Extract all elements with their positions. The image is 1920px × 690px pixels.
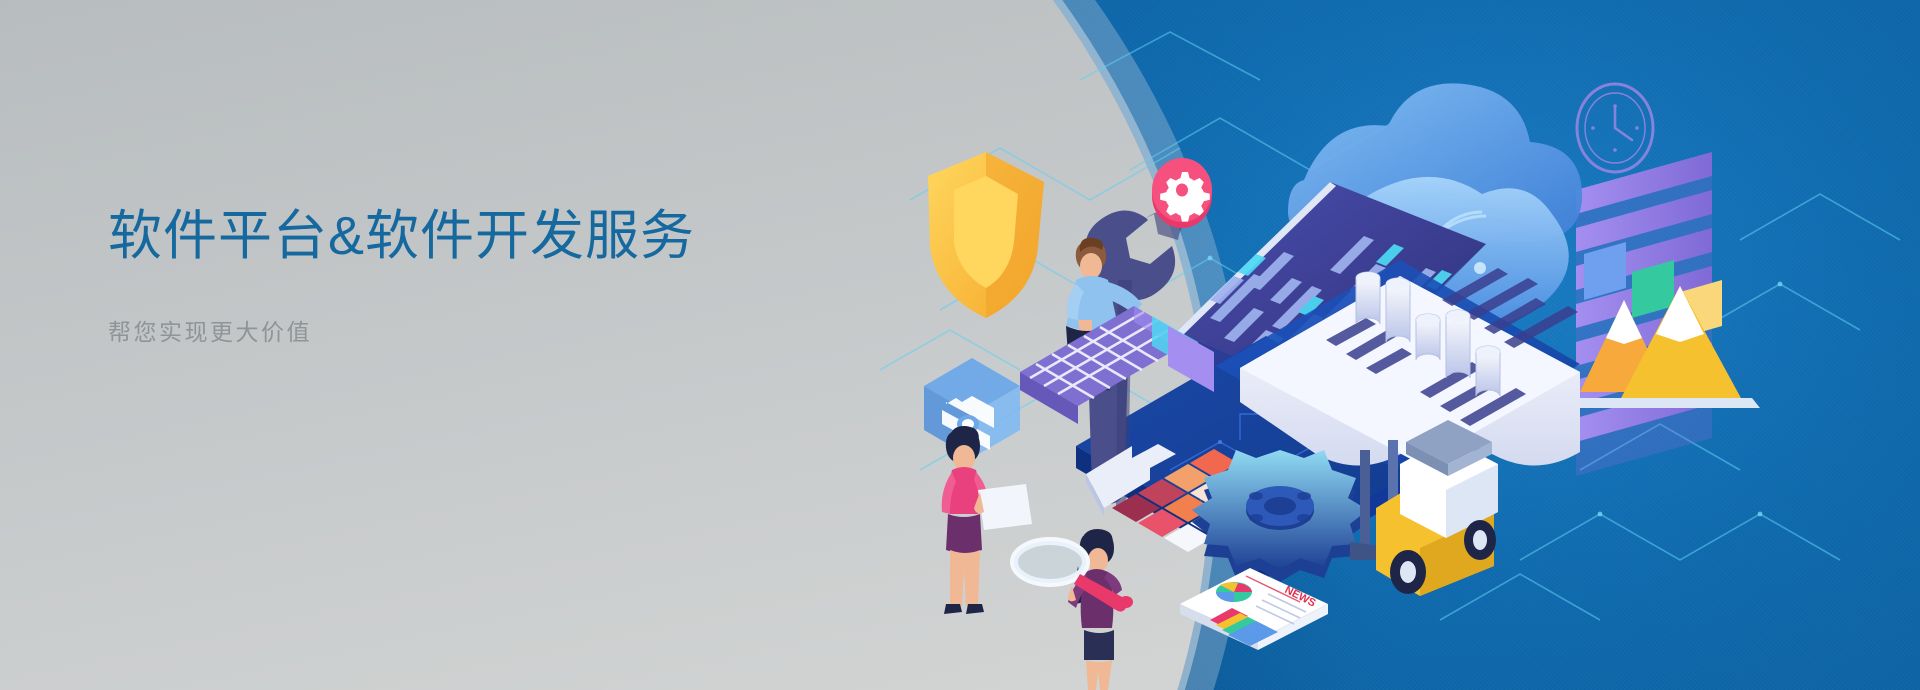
page-subtitle: 帮您实现更大价值 xyxy=(108,313,828,347)
shield-icon xyxy=(928,152,1044,318)
hero-illustration: NEWS xyxy=(880,0,1920,690)
headline-block: 软件平台&软件开发服务 帮您实现更大价值 xyxy=(108,205,828,347)
gear-badge-icon xyxy=(1152,158,1212,228)
hero-banner: 软件平台&软件开发服务 帮您实现更大价值 xyxy=(0,0,1920,690)
person-analyst xyxy=(942,426,1032,614)
page-title: 软件平台&软件开发服务 xyxy=(108,205,828,269)
clock-icon xyxy=(1577,84,1653,172)
news-document: NEWS xyxy=(1180,568,1328,650)
striped-panel-cards xyxy=(1576,152,1722,476)
doc-pie-chart xyxy=(1216,582,1252,602)
